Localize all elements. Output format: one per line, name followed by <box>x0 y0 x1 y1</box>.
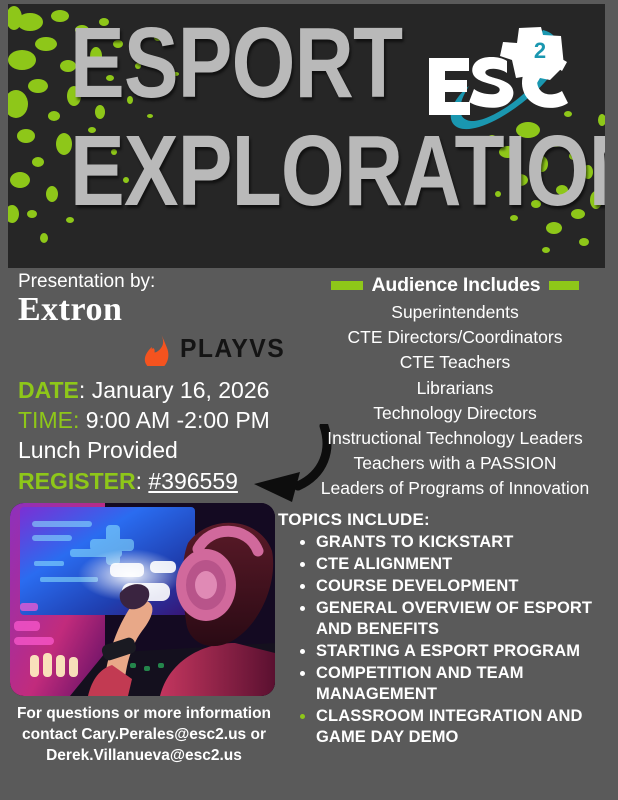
gamer-photo-illustration <box>10 503 275 696</box>
playvs-wordmark: PLAYVS <box>180 333 285 364</box>
presenter-name: Extron <box>18 292 308 328</box>
topics-title: TOPICS INCLUDE: <box>278 510 614 530</box>
title-line-exploration: EXPLORATION <box>70 128 455 214</box>
contact-info: For questions or more information contac… <box>8 703 280 766</box>
audience-item: Teachers with a PASSION <box>300 451 610 476</box>
date-value: January 16, 2026 <box>92 377 270 403</box>
gamer-photo <box>10 503 275 696</box>
audience-item: Superintendents <box>300 300 610 325</box>
audience-title: Audience Includes <box>372 274 541 297</box>
audience-item: Instructional Technology Leaders <box>300 426 610 451</box>
topic-item: COMPETITION AND TEAM MANAGEMENT <box>300 663 614 705</box>
time-label: TIME: <box>18 407 79 433</box>
audience-item: Technology Directors <box>300 401 610 426</box>
audience-heading: Audience Includes <box>300 274 610 297</box>
svg-text:2: 2 <box>534 38 546 63</box>
audience-section: Audience Includes Superintendents CTE Di… <box>300 274 610 502</box>
dash-right-icon <box>549 281 579 290</box>
title-line-esport: ESPORT <box>70 20 455 106</box>
flame-icon <box>140 332 174 366</box>
date-line: DATE: January 16, 2026 <box>18 375 308 405</box>
header-banner: ESPORT EXPLORATION 2 <box>8 4 605 268</box>
topics-section: TOPICS INCLUDE: GRANTS TO KICKSTART CTE … <box>278 510 614 749</box>
audience-item: CTE Teachers <box>300 350 610 375</box>
topic-item: COURSE DEVELOPMENT <box>300 576 614 597</box>
esport-exploration-flyer: ESPORT EXPLORATION 2 Presentation by: Ex… <box>0 0 618 800</box>
register-label: REGISTER <box>18 468 136 494</box>
audience-item: Leaders of Programs of Innovation <box>300 476 610 501</box>
esc-region-2-logo: 2 <box>415 22 585 162</box>
presentation-by-label: Presentation by: <box>18 272 308 293</box>
topic-item: GRANTS TO KICKSTART <box>300 532 614 553</box>
contact-line-2: contact Cary.Perales@esc2.us or <box>8 724 280 745</box>
topic-item: CLASSROOM INTEGRATION AND GAME DAY DEMO <box>300 706 614 748</box>
contact-line-1: For questions or more information <box>8 703 280 724</box>
date-label: DATE <box>18 377 79 403</box>
contact-line-3: Derek.Villanueva@esc2.us <box>8 745 280 766</box>
audience-item: CTE Directors/Coordinators <box>300 325 610 350</box>
topic-item: GENERAL OVERVIEW OF ESPORT AND BENEFITS <box>300 598 614 640</box>
topics-list: GRANTS TO KICKSTART CTE ALIGNMENT COURSE… <box>278 532 614 748</box>
playvs-logo: PLAYVS <box>140 332 308 366</box>
topic-item: CTE ALIGNMENT <box>300 554 614 575</box>
register-number[interactable]: #396559 <box>148 468 238 494</box>
audience-item: Librarians <box>300 376 610 401</box>
dash-left-icon <box>331 281 363 290</box>
topic-item: STARTING A ESPORT PROGRAM <box>300 641 614 662</box>
audience-list: Superintendents CTE Directors/Coordinato… <box>300 300 610 502</box>
